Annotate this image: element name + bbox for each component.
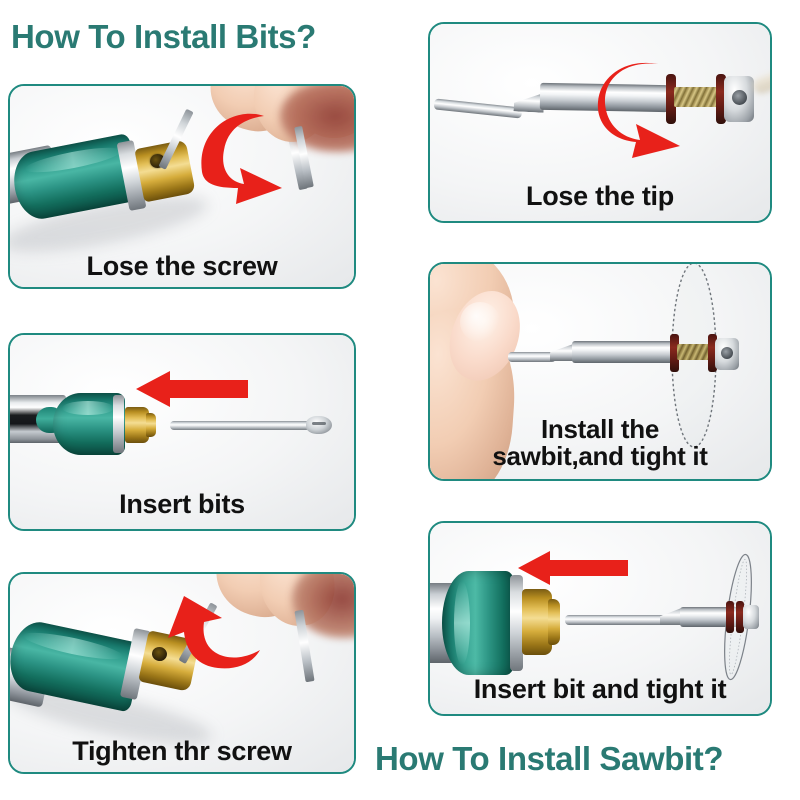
brass-collet-tip [146, 413, 156, 437]
photo-insert-bit [430, 523, 770, 714]
drill-bit-shank [170, 421, 310, 430]
step-panel-tighten-screw: Tighten thr screw [8, 572, 356, 774]
grip-highlight [62, 401, 114, 415]
rotation-arrow-clockwise [178, 100, 298, 215]
photo-lose-tip [430, 24, 770, 221]
photo-tighten-screw [10, 574, 354, 772]
rotation-arrow-counter-clockwise [160, 586, 280, 696]
infographic-root: How To Install Bits? [0, 0, 800, 800]
insert-direction-arrow [136, 371, 248, 407]
screw-slot [721, 347, 733, 359]
step-panel-lose-tip: Lose the tip [428, 22, 772, 223]
tool-chrome-band [113, 395, 124, 453]
step-panel-lose-screw: Lose the screw [8, 84, 356, 289]
section-title-install-bits: How To Install Bits? [11, 20, 316, 53]
mandrel-body [572, 341, 674, 363]
insert-direction-arrow [518, 551, 628, 585]
step-panel-insert-bits: Insert bits [8, 333, 356, 531]
step-panel-insert-bit: Insert bit and tight it [428, 521, 772, 716]
photo-install-sawbit [430, 264, 770, 479]
rotation-arrow-clockwise [596, 58, 706, 158]
nail-shine [460, 302, 500, 342]
threaded-stud [677, 344, 711, 360]
step-panel-install-sawbit: Install the sawbit,and tight it [428, 262, 772, 481]
brass-collet-tip [548, 599, 560, 645]
washer-inner [726, 601, 734, 633]
mandrel-thin-shaft [508, 352, 556, 362]
section-title-install-sawbit: How To Install Sawbit? [375, 742, 723, 775]
photo-lose-screw [10, 86, 354, 287]
drill-bit-tip [306, 416, 332, 434]
screw-head [743, 605, 759, 629]
drill-bit-flute [312, 422, 326, 425]
grip-highlight [454, 581, 470, 665]
mandrel-thin-shaft [565, 615, 665, 625]
photo-insert-bits [10, 335, 354, 529]
screw-slot [732, 90, 747, 105]
